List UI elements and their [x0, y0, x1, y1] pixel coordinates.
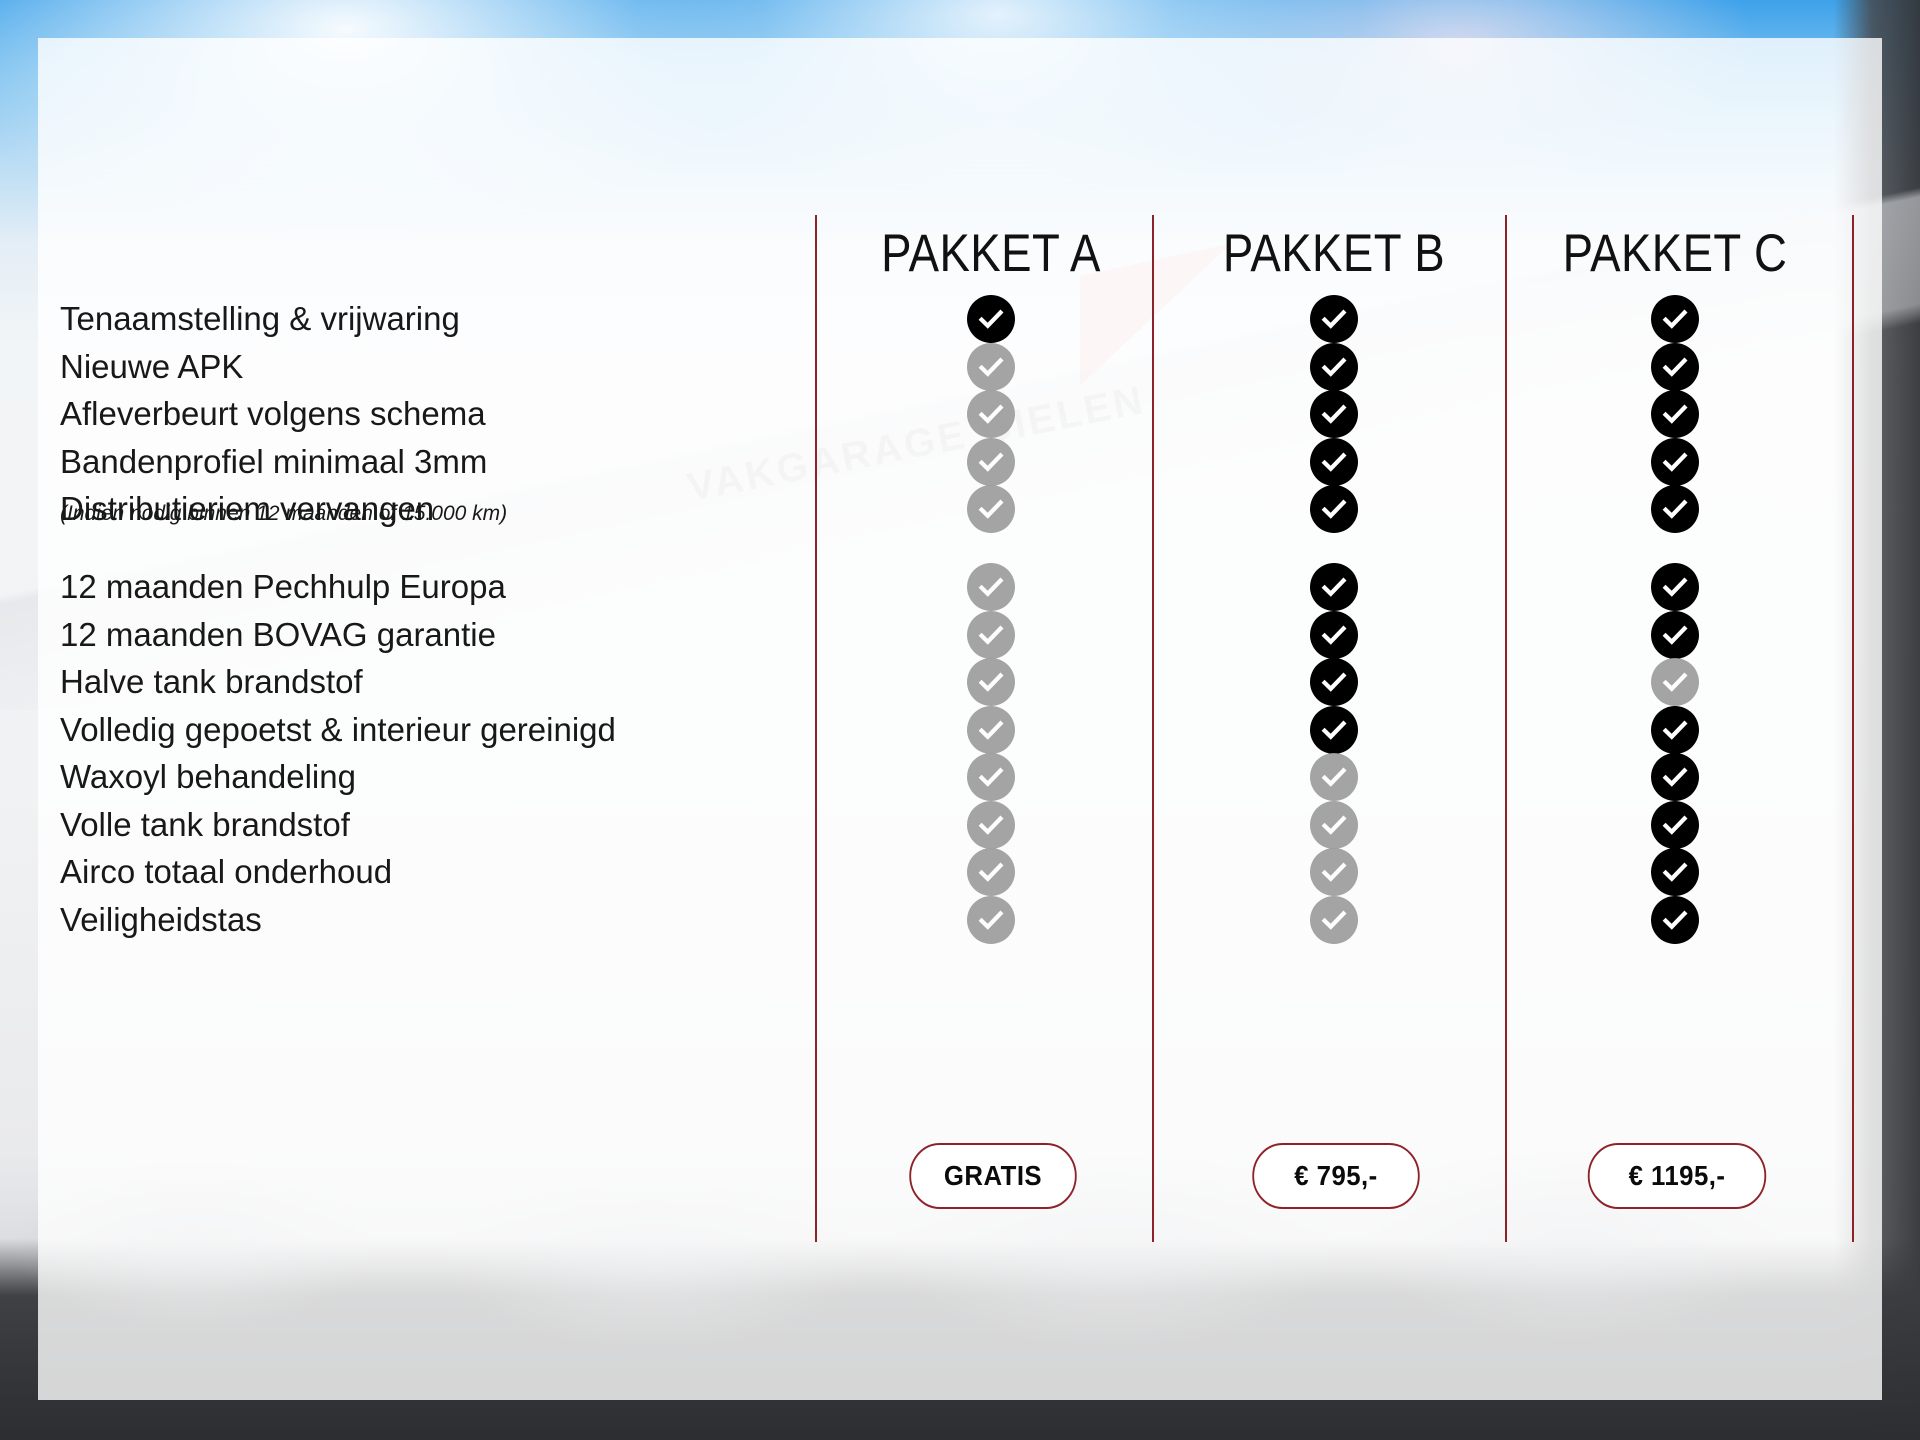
column-divider-4 — [1852, 215, 1854, 1242]
column-divider-1 — [815, 215, 817, 1242]
column-header-b: PAKKET B — [1205, 223, 1463, 284]
check-icon-b-g1r1-included — [1310, 295, 1358, 343]
check-icon-c-g1r3-included — [1651, 390, 1699, 438]
check-icon-b-g2r8-excluded — [1310, 896, 1358, 944]
check-icon-a-g2r8-excluded — [967, 896, 1015, 944]
check-icon-b-g1r4-included — [1310, 438, 1358, 486]
check-icon-a-g2r2-excluded — [967, 611, 1015, 659]
check-icon-c-g2r1-included — [1651, 563, 1699, 611]
check-icon-a-g2r3-excluded — [967, 658, 1015, 706]
comparison-card: PAKKET APAKKET BPAKKET CTenaamstelling &… — [38, 38, 1882, 1400]
feature-label: Airco totaal onderhoud — [60, 855, 392, 888]
price-button-c[interactable]: € 1195,- — [1588, 1143, 1766, 1209]
check-icon-b-g1r5-included — [1310, 485, 1358, 533]
check-icon-c-g2r4-included — [1651, 706, 1699, 754]
feature-label: 12 maanden Pechhulp Europa — [60, 570, 506, 603]
check-icon-b-g1r2-included — [1310, 343, 1358, 391]
feature-label: Halve tank brandstof — [60, 665, 363, 698]
check-icon-a-g1r5-excluded — [967, 485, 1015, 533]
check-icon-a-g2r4-excluded — [967, 706, 1015, 754]
feature-label: Bandenprofiel minimaal 3mm — [60, 445, 487, 478]
price-button-a[interactable]: GRATIS — [909, 1143, 1076, 1209]
feature-label: Nieuwe APK — [60, 350, 243, 383]
check-icon-c-g2r7-included — [1651, 848, 1699, 896]
check-icon-a-g2r5-excluded — [967, 753, 1015, 801]
package-comparison-table: PAKKET APAKKET BPAKKET CTenaamstelling &… — [38, 38, 1882, 1400]
check-icon-b-g2r3-included — [1310, 658, 1358, 706]
feature-note: (Indien nodig binnen 12 maanden of 15.00… — [60, 503, 507, 524]
check-icon-b-g2r5-excluded — [1310, 753, 1358, 801]
feature-label: Veiligheidstas — [60, 903, 262, 936]
check-icon-c-g1r1-included — [1651, 295, 1699, 343]
check-icon-a-g2r7-excluded — [967, 848, 1015, 896]
check-icon-b-g2r7-excluded — [1310, 848, 1358, 896]
check-icon-c-g2r5-included — [1651, 753, 1699, 801]
check-icon-c-g1r2-included — [1651, 343, 1699, 391]
check-icon-c-g1r5-included — [1651, 485, 1699, 533]
check-icon-b-g1r3-included — [1310, 390, 1358, 438]
check-icon-c-g1r4-included — [1651, 438, 1699, 486]
feature-label: Tenaamstelling & vrijwaring — [60, 302, 460, 335]
check-icon-b-g2r4-included — [1310, 706, 1358, 754]
column-header-a: PAKKET A — [862, 223, 1120, 284]
column-divider-3 — [1505, 215, 1507, 1242]
check-icon-a-g1r4-excluded — [967, 438, 1015, 486]
check-icon-a-g1r3-excluded — [967, 390, 1015, 438]
check-icon-a-g1r1-included — [967, 295, 1015, 343]
check-icon-c-g2r2-included — [1651, 611, 1699, 659]
check-icon-b-g2r2-included — [1310, 611, 1358, 659]
column-header-c: PAKKET C — [1546, 223, 1804, 284]
feature-label: Volledig gepoetst & interieur gereinigd — [60, 713, 616, 746]
feature-label: Volle tank brandstof — [60, 808, 350, 841]
check-icon-b-g2r6-excluded — [1310, 801, 1358, 849]
check-icon-c-g2r8-included — [1651, 896, 1699, 944]
check-icon-a-g1r2-excluded — [967, 343, 1015, 391]
check-icon-c-g2r6-included — [1651, 801, 1699, 849]
check-icon-b-g2r1-included — [1310, 563, 1358, 611]
check-icon-a-g2r6-excluded — [967, 801, 1015, 849]
price-button-b[interactable]: € 795,- — [1252, 1143, 1419, 1209]
check-icon-a-g2r1-excluded — [967, 563, 1015, 611]
feature-label: Waxoyl behandeling — [60, 760, 356, 793]
feature-label: Afleverbeurt volgens schema — [60, 397, 486, 430]
feature-label: 12 maanden BOVAG garantie — [60, 618, 496, 651]
check-icon-c-g2r3-excluded — [1651, 658, 1699, 706]
column-divider-2 — [1152, 215, 1154, 1242]
